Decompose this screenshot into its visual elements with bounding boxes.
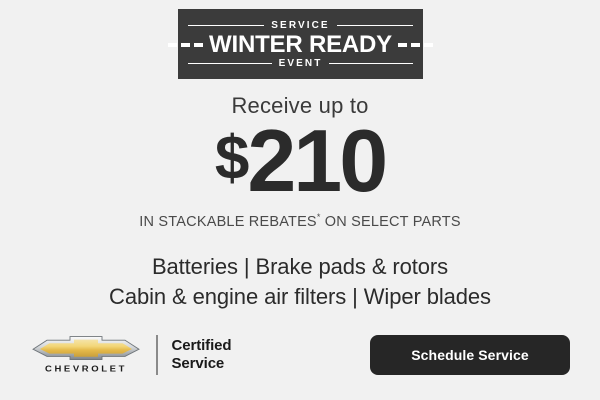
winter-ready-event-banner: SERVICE WINTER READY EVENT (178, 9, 423, 79)
chevrolet-logo: CHEVROLET (30, 335, 142, 375)
banner-core: SERVICE WINTER READY EVENT (178, 16, 423, 72)
chevrolet-bowtie-icon (30, 335, 142, 361)
rule-left (188, 25, 264, 27)
banner-kicker-bottom-row: EVENT (188, 58, 413, 70)
certified-service-label: Certified Service (172, 337, 232, 373)
banner-bottom-strip (178, 72, 423, 79)
disclaimer-tail: ON SELECT PARTS (321, 214, 461, 230)
parts-line-2: Cabin & engine air filters | Wiper blade… (0, 282, 600, 312)
brand-divider (156, 335, 158, 375)
banner-headline: WINTER READY (209, 33, 392, 57)
chevrolet-wordmark: CHEVROLET (45, 365, 127, 374)
banner-kicker-bottom: EVENT (279, 59, 323, 69)
disclaimer-text: IN STACKABLE REBATES (139, 214, 317, 230)
eligible-parts-list: Batteries | Brake pads & rotors Cabin & … (0, 252, 600, 311)
footer: CHEVROLET Certified Service Schedule Ser… (0, 332, 600, 378)
rule-left (188, 63, 272, 65)
advertisement-banner: SERVICE WINTER READY EVENT Receive up to… (0, 0, 600, 400)
dashes-right-icon (398, 43, 433, 47)
banner-headline-row: WINTER READY (183, 33, 418, 57)
rule-right (337, 25, 413, 27)
banner-kicker-top-row: SERVICE (188, 20, 413, 32)
offer-amount: $210 (0, 117, 600, 205)
brand-lockup: CHEVROLET Certified Service (30, 335, 231, 375)
dashes-left-icon (168, 43, 203, 47)
schedule-service-button[interactable]: Schedule Service (370, 335, 570, 375)
offer-disclaimer: IN STACKABLE REBATES* ON SELECT PARTS (0, 214, 600, 230)
banner-kicker-top: SERVICE (271, 21, 329, 31)
parts-line-1: Batteries | Brake pads & rotors (0, 252, 600, 282)
currency-symbol: $ (215, 124, 247, 193)
amount-value: 210 (247, 111, 385, 210)
rule-right (329, 63, 413, 65)
certified-line-2: Service (172, 355, 232, 373)
banner-top-strip (178, 9, 423, 16)
certified-line-1: Certified (172, 337, 232, 355)
